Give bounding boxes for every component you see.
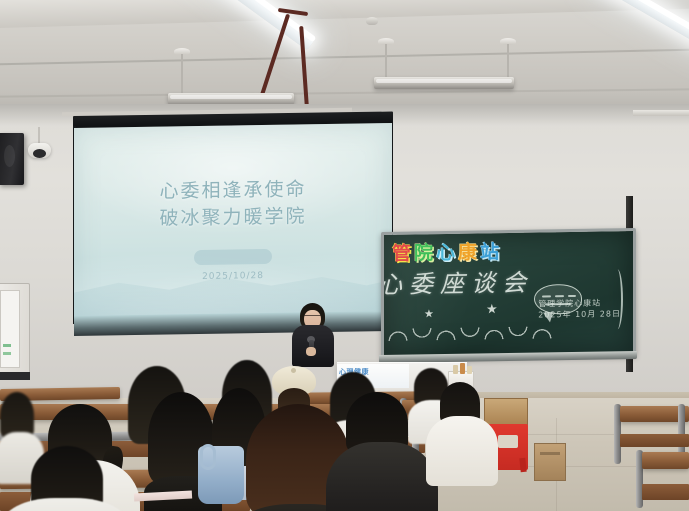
window-ledge (633, 110, 689, 116)
bench-seat-right-3 (642, 484, 689, 500)
presenter (289, 303, 337, 365)
ceiling-seam (0, 49, 689, 65)
bench-seat-right-2 (620, 434, 689, 447)
pendant-lamp-rod-left (181, 54, 183, 94)
dome-security-camera-icon (28, 143, 51, 158)
pendant-lamp-rod-right2 (507, 44, 509, 78)
projection-screen: 心委相逢承使命 破冰聚力暖学院 2025/10/28 (73, 116, 393, 334)
blackboard-headline: 管院心康站 (392, 235, 636, 266)
wall-control-panel[interactable] (0, 283, 30, 376)
basket-item-1 (453, 365, 458, 374)
slide-title-text: 心委相逢承使命 破冰聚力暖学院 (74, 175, 392, 234)
headline-char-4: 康 (458, 237, 478, 264)
slide-subtitle-placeholder (194, 249, 272, 265)
headline-char-3: 心 (436, 238, 456, 265)
stool-handle-hole (498, 435, 518, 448)
classroom-photo-scene: 心委相逢承使命 破冰聚力暖学院 2025/10/28 管院心康站 心委座谈会 ★… (0, 0, 689, 511)
presenter-hand (306, 347, 316, 356)
smoke-detector-icon (366, 17, 378, 25)
star-icon-left: ★ (424, 309, 434, 320)
ceiling-beam (0, 0, 689, 28)
stool-leg-right (519, 458, 526, 473)
wall-speaker (0, 133, 24, 185)
ceiling (0, 0, 689, 118)
presenter-glasses-icon (304, 315, 321, 320)
star-icon-right: ★ (486, 302, 498, 315)
panel-led-indicator-2 (3, 352, 11, 355)
basket-item-2 (460, 363, 465, 374)
backpack-strap (200, 444, 216, 470)
headline-char-5: 站 (480, 237, 500, 264)
panel-led-indicator (3, 344, 11, 347)
pendant-lamp-rod-right (385, 44, 387, 78)
control-panel-face (0, 290, 20, 368)
pendant-lamp-right (374, 77, 514, 89)
blackboard-signature: 管理学院心康站 2025年 10月 28日 (538, 297, 621, 320)
small-carton-box (534, 443, 566, 481)
slide-surface: 心委相逢承使命 破冰聚力暖学院 2025/10/28 (74, 123, 392, 320)
panel-base (0, 372, 30, 380)
ceiling-seam-lower (0, 88, 689, 97)
headline-char-2: 院 (414, 238, 434, 265)
basket-item-3 (467, 366, 472, 374)
screen-lower-shadow (74, 311, 392, 336)
blackboard-subheading: 心委座谈会 (381, 263, 533, 300)
bench-right-3 (642, 452, 689, 469)
headline-char-1: 管 (392, 239, 412, 266)
blackboard: 管院心康站 心委座谈会 ★ ★ 管理学院心康站 2025年 10月 28日 (381, 228, 636, 360)
